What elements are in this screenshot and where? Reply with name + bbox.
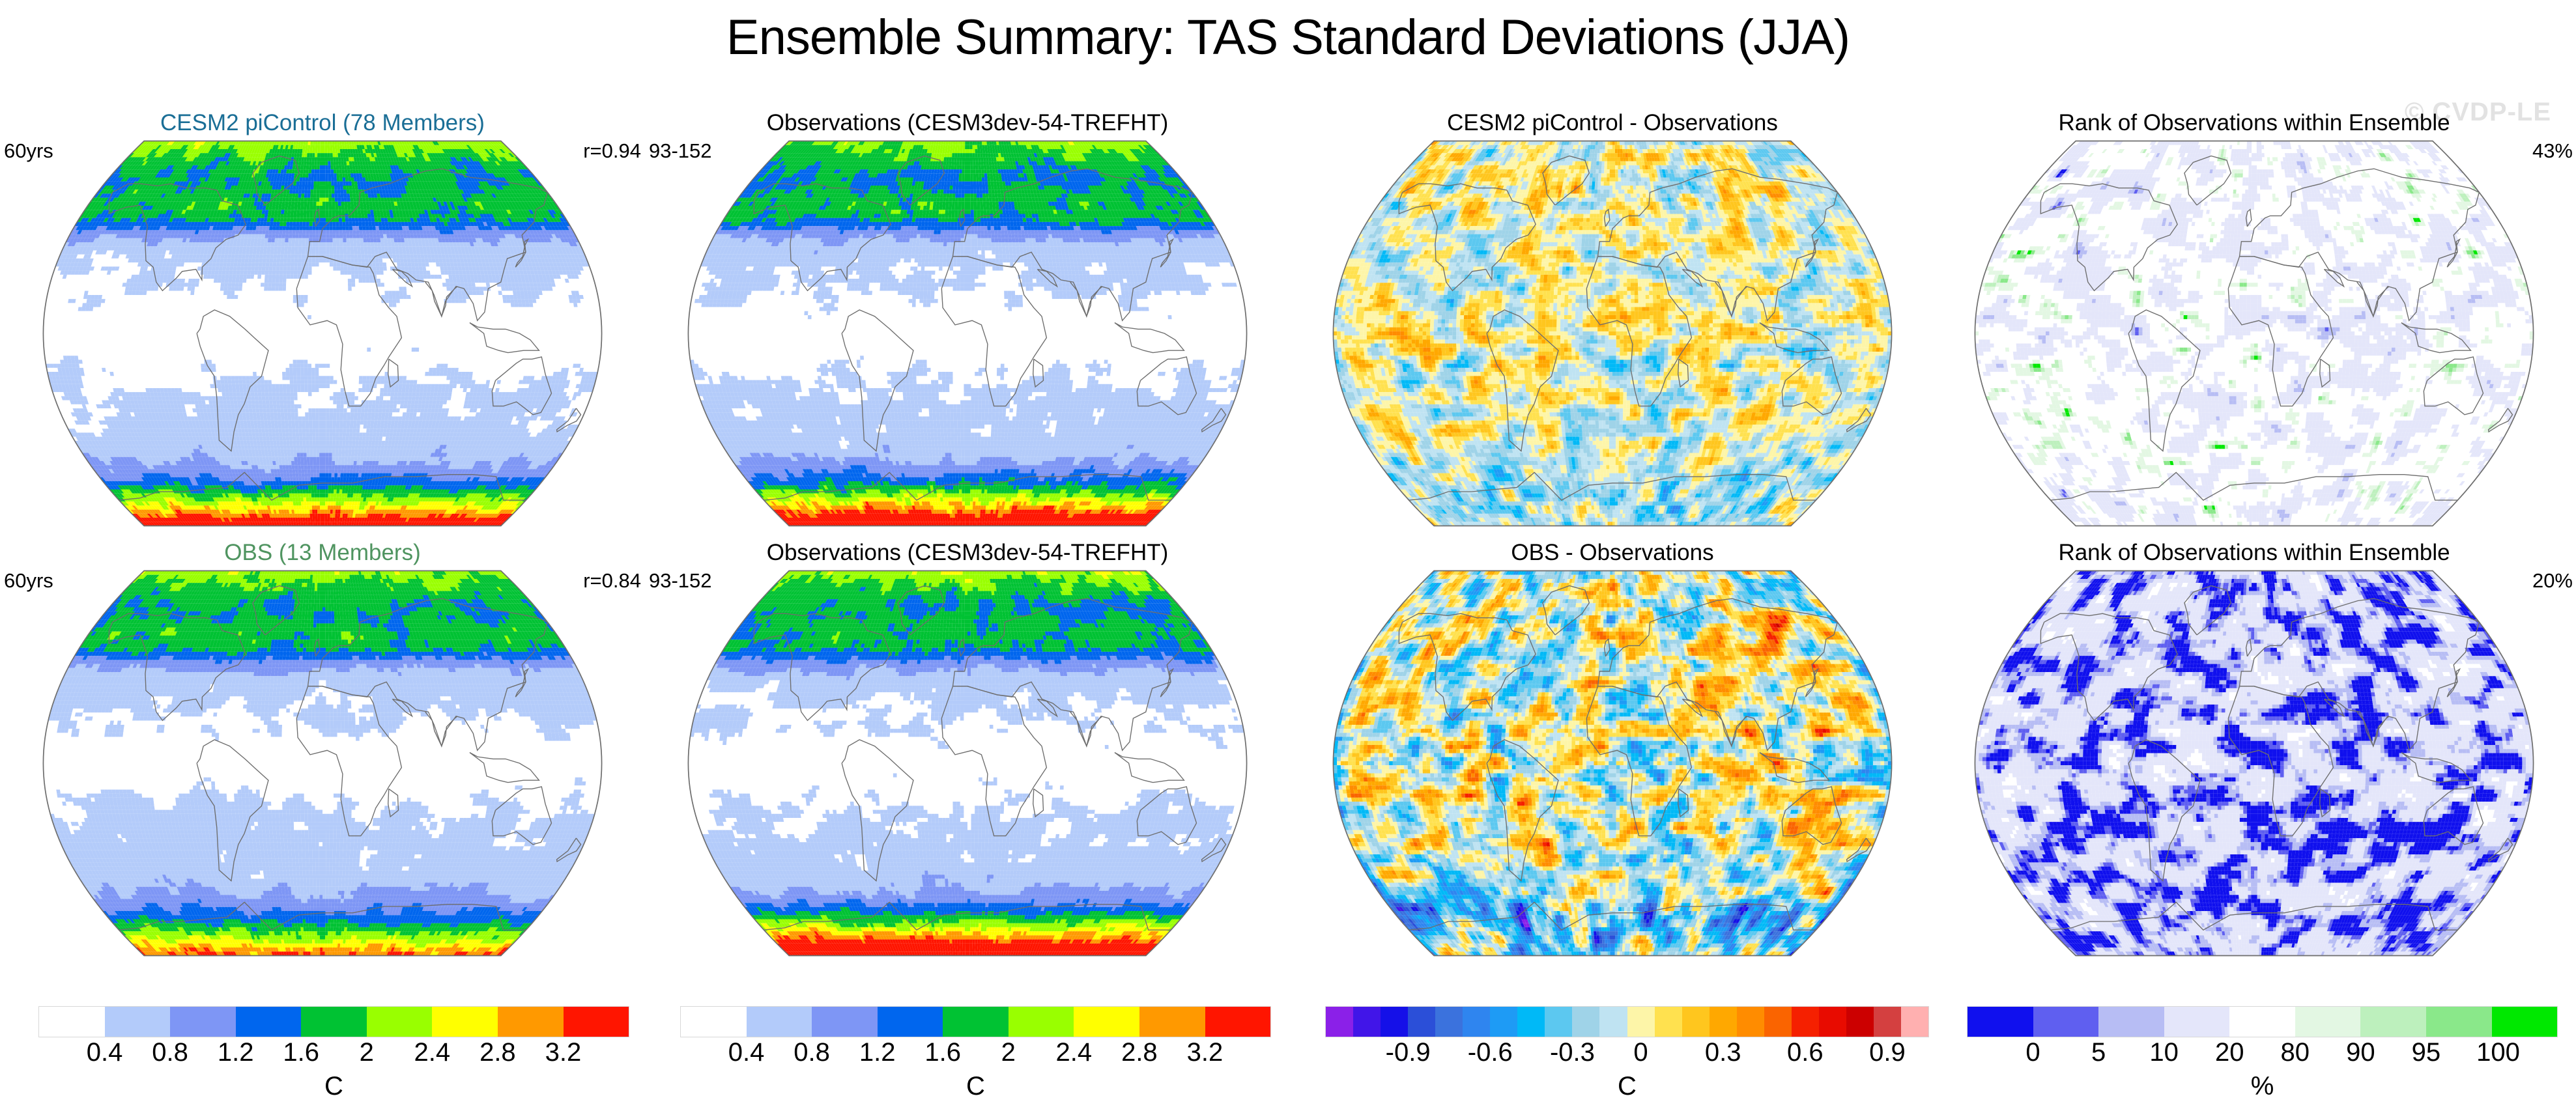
colorbar-ticks-cbar-tas-std-2: 0.40.81.21.622.42.83.2 bbox=[681, 1038, 1270, 1074]
panel-title-observations-row2: Observations (CESM3dev-54-TREFHT) bbox=[645, 539, 1290, 567]
colorbar-swatch bbox=[1408, 1007, 1435, 1037]
colorbar-tick-label: 1.2 bbox=[218, 1038, 254, 1067]
panel-title-obs-ensemble: OBS (13 Members) bbox=[0, 539, 645, 567]
colorbar-swatch bbox=[105, 1007, 171, 1037]
map-plot-cesm2-picontrol bbox=[0, 138, 645, 529]
colorbar-swatch bbox=[170, 1007, 236, 1037]
colorbar-ticks-cbar-rank: 051020809095100 bbox=[1968, 1038, 2557, 1074]
colorbar-strip-cbar-tas-std-2 bbox=[681, 1007, 1270, 1037]
colorbar-swatch bbox=[1901, 1007, 1928, 1037]
colorbar-tick-label: 20 bbox=[2215, 1038, 2244, 1067]
panel-title-cesm2-picontrol: CESM2 piControl (78 Members) bbox=[0, 109, 645, 137]
colorbar-tick-label: 2.4 bbox=[1056, 1038, 1093, 1067]
map-panel-obs-minus-observations: OBS - Observations bbox=[1290, 539, 1935, 969]
colorbar-swatch bbox=[747, 1007, 812, 1037]
colorbar-swatch bbox=[1874, 1007, 1901, 1037]
colorbar-swatch bbox=[236, 1007, 302, 1037]
colorbar-ticks-cbar-tas-std-1: 0.40.81.21.622.42.83.2 bbox=[39, 1038, 629, 1074]
colorbar-swatch bbox=[1545, 1007, 1572, 1037]
colorbar-tick-label: 5 bbox=[2091, 1038, 2106, 1067]
panel-title-rank-row2: Rank of Observations within Ensemble bbox=[1932, 539, 2576, 567]
colorbar-tick-label: 0.4 bbox=[728, 1038, 765, 1067]
colorbar-swatch bbox=[1205, 1007, 1271, 1037]
colorbar-swatch bbox=[2426, 1007, 2492, 1037]
colorbar-cbar-rank: 051020809095100% bbox=[1968, 1007, 2557, 1104]
colorbar-tick-label: 80 bbox=[2281, 1038, 2310, 1067]
colorbar-tick-label: -0.3 bbox=[1550, 1038, 1595, 1067]
colorbar-tick-label: 0.8 bbox=[152, 1038, 188, 1067]
colorbar-tick-label: 90 bbox=[2346, 1038, 2375, 1067]
panel-title-rank-row1: Rank of Observations within Ensemble bbox=[1932, 109, 2576, 137]
colorbar-swatch bbox=[432, 1007, 498, 1037]
colorbar-swatch bbox=[301, 1007, 367, 1037]
panel-title-cesm2-minus-observations: CESM2 piControl - Observations bbox=[1290, 109, 1935, 137]
colorbar-swatch bbox=[1819, 1007, 1846, 1037]
colorbar-tick-label: 2.8 bbox=[1121, 1038, 1158, 1067]
colorbar-swatch bbox=[1627, 1007, 1655, 1037]
map-panel-observations-row1: Observations (CESM3dev-54-TREFHT)93-152 bbox=[645, 109, 1290, 539]
colorbar-swatch bbox=[1655, 1007, 1682, 1037]
colorbar-strip-cbar-diff bbox=[1326, 1007, 1928, 1037]
map-panel-observations-row2: Observations (CESM3dev-54-TREFHT)93-152 bbox=[645, 539, 1290, 969]
map-panel-cesm2-picontrol: CESM2 piControl (78 Members)60yrsr=0.94 bbox=[0, 109, 645, 539]
colorbar-ticks-cbar-diff: -0.9-0.6-0.300.30.60.9 bbox=[1326, 1038, 1928, 1074]
colorbar-swatch bbox=[1737, 1007, 1764, 1037]
map-plot-obs-minus-observations bbox=[1290, 568, 1935, 959]
colorbar-swatch bbox=[367, 1007, 433, 1037]
colorbar-swatch bbox=[1353, 1007, 1381, 1037]
map-plot-rank-row1 bbox=[1932, 138, 2576, 529]
map-plot-rank-row2 bbox=[1932, 568, 2576, 959]
map-panel-rank-row1: Rank of Observations within Ensemble43% bbox=[1932, 109, 2576, 539]
colorbar-swatch bbox=[943, 1007, 1009, 1037]
colorbar-swatch bbox=[1463, 1007, 1490, 1037]
colorbar-strip-cbar-tas-std-1 bbox=[39, 1007, 629, 1037]
colorbar-swatch bbox=[1572, 1007, 1599, 1037]
map-plot-observations-row2 bbox=[645, 568, 1290, 959]
colorbar-swatch bbox=[878, 1007, 943, 1037]
colorbar-swatch bbox=[564, 1007, 629, 1037]
colorbar-swatch bbox=[2295, 1007, 2361, 1037]
colorbar-tick-label: 2 bbox=[1001, 1038, 1016, 1067]
colorbar-swatch bbox=[812, 1007, 878, 1037]
colorbar-unit-cbar-diff: C bbox=[1326, 1072, 1928, 1101]
colorbar-swatch bbox=[2098, 1007, 2164, 1037]
colorbar-tick-label: 0.4 bbox=[87, 1038, 123, 1067]
colorbar-cbar-tas-std-2: 0.40.81.21.622.42.83.2C bbox=[681, 1007, 1270, 1104]
page-title: Ensemble Summary: TAS Standard Deviation… bbox=[0, 9, 2576, 66]
panel-title-obs-minus-observations: OBS - Observations bbox=[1290, 539, 1935, 567]
colorbar-swatch bbox=[39, 1007, 105, 1037]
colorbar-tick-label: 1.6 bbox=[283, 1038, 319, 1067]
colorbar-swatch bbox=[1490, 1007, 1517, 1037]
colorbar-swatch bbox=[1764, 1007, 1792, 1037]
colorbar-swatch bbox=[1682, 1007, 1710, 1037]
colorbar-swatch bbox=[1710, 1007, 1737, 1037]
colorbar-tick-label: 3.2 bbox=[545, 1038, 582, 1067]
colorbar-swatch bbox=[1139, 1007, 1205, 1037]
panel-title-observations-row1: Observations (CESM3dev-54-TREFHT) bbox=[645, 109, 1290, 137]
colorbar-tick-label: 10 bbox=[2149, 1038, 2179, 1067]
colorbar-tick-label: 100 bbox=[2476, 1038, 2520, 1067]
map-plot-observations-row1 bbox=[645, 138, 1290, 529]
colorbar-tick-label: 0.9 bbox=[1869, 1038, 1906, 1067]
colorbar-tick-label: 95 bbox=[2412, 1038, 2441, 1067]
colorbar-tick-label: 0 bbox=[1633, 1038, 1648, 1067]
colorbar-swatch bbox=[1792, 1007, 1819, 1037]
colorbar-swatch bbox=[1846, 1007, 1874, 1037]
colorbar-tick-label: -0.6 bbox=[1468, 1038, 1513, 1067]
colorbar-swatch bbox=[2229, 1007, 2295, 1037]
colorbar-swatch bbox=[1381, 1007, 1408, 1037]
map-panel-rank-row2: Rank of Observations within Ensemble20% bbox=[1932, 539, 2576, 969]
map-panel-cesm2-minus-observations: CESM2 piControl - Observations bbox=[1290, 109, 1935, 539]
colorbar-swatch bbox=[681, 1007, 747, 1037]
colorbar-swatch bbox=[1326, 1007, 1353, 1037]
colorbar-swatch bbox=[2360, 1007, 2426, 1037]
colorbar-tick-label: 0 bbox=[2025, 1038, 2040, 1067]
colorbar-swatch bbox=[1009, 1007, 1074, 1037]
colorbar-tick-label: 1.2 bbox=[859, 1038, 896, 1067]
colorbar-cbar-tas-std-1: 0.40.81.21.622.42.83.2C bbox=[39, 1007, 629, 1104]
colorbar-tick-label: 0.8 bbox=[794, 1038, 830, 1067]
colorbar-unit-cbar-tas-std-2: C bbox=[681, 1072, 1270, 1101]
colorbar-tick-label: 2 bbox=[360, 1038, 374, 1067]
colorbar-swatch bbox=[1435, 1007, 1463, 1037]
colorbar-swatch bbox=[2492, 1007, 2558, 1037]
colorbar-swatch bbox=[498, 1007, 564, 1037]
map-panel-obs-ensemble: OBS (13 Members)60yrsr=0.84 bbox=[0, 539, 645, 969]
colorbar-cbar-diff: -0.9-0.6-0.300.30.60.9C bbox=[1326, 1007, 1928, 1104]
colorbar-tick-label: -0.9 bbox=[1386, 1038, 1431, 1067]
colorbar-tick-label: 2.8 bbox=[479, 1038, 516, 1067]
colorbar-strip-cbar-rank bbox=[1968, 1007, 2557, 1037]
colorbar-unit-cbar-rank: % bbox=[1968, 1072, 2557, 1101]
map-plot-cesm2-minus-observations bbox=[1290, 138, 1935, 529]
colorbar-tick-label: 3.2 bbox=[1187, 1038, 1224, 1067]
colorbar-tick-label: 1.6 bbox=[924, 1038, 961, 1067]
colorbar-tick-label: 0.6 bbox=[1787, 1038, 1824, 1067]
colorbar-unit-cbar-tas-std-1: C bbox=[39, 1072, 629, 1101]
colorbar-swatch bbox=[1074, 1007, 1139, 1037]
colorbar-swatch bbox=[2164, 1007, 2230, 1037]
colorbar-swatch bbox=[2033, 1007, 2099, 1037]
colorbar-swatch bbox=[1968, 1007, 2033, 1037]
colorbar-swatch bbox=[1517, 1007, 1545, 1037]
map-plot-obs-ensemble bbox=[0, 568, 645, 959]
colorbar-tick-label: 0.3 bbox=[1705, 1038, 1741, 1067]
colorbar-swatch bbox=[1599, 1007, 1627, 1037]
colorbar-tick-label: 2.4 bbox=[414, 1038, 451, 1067]
